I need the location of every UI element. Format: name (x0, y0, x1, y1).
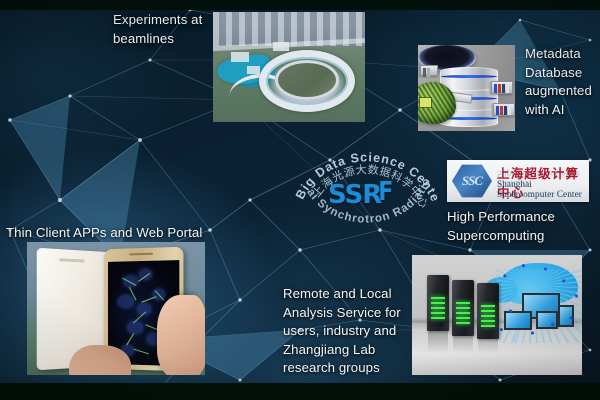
top-dark-band (0, 0, 600, 10)
caption-thin-client-apps: Thin Client APPs and Web Portal (6, 224, 202, 243)
building (273, 42, 289, 51)
server-racks-cloud-devices-illustration (412, 255, 582, 375)
sscc-hex-mark: SSC (452, 164, 492, 198)
server-rack (427, 275, 449, 331)
ssrf-wordmark: SSRF (328, 180, 394, 210)
hand (69, 345, 131, 375)
ssrf-facility-aerial-photo (213, 12, 365, 122)
db-glow-line (441, 75, 497, 78)
caption-metadata-database: Metadata Database augmented with AI (525, 45, 592, 119)
building (247, 66, 260, 74)
sscc-english-reflection: Shanghai Supercomputer Center (497, 169, 589, 189)
caption-experiments-at-beamlines: Experiments at beamlines (113, 11, 202, 48)
building (231, 52, 249, 62)
ssrf-big-data-science-center-logo: Big Data Science Center Shangh 上海光源大数据科学… (290, 114, 442, 232)
db-segment (440, 67, 498, 91)
shanghai-supercomputer-center-logo: SSC 上海超级计算中心 Shanghai Supercomputer Cent… (447, 160, 589, 202)
caption-remote-local-analysis-service: Remote and Local Analysis Service for us… (283, 285, 401, 378)
db-drawer (491, 81, 513, 94)
binary-data-particles (492, 259, 582, 343)
rack-reflection (428, 327, 448, 353)
rack-reflection (453, 327, 473, 353)
hand (157, 295, 205, 375)
phone-speaker (129, 253, 153, 256)
sscc-mark-text: SSC (462, 173, 482, 189)
bottom-dark-band (0, 383, 600, 400)
caption-high-performance-supercomputing: High Performance Supercomputing (447, 208, 555, 245)
db-drawer (493, 103, 515, 116)
ring-courtyard (275, 60, 339, 100)
db-drawer (420, 65, 438, 76)
slide-canvas: Big Data Science Center Shangh 上海光源大数据科学… (0, 0, 600, 400)
smartphone-molecular-viewer-photo (27, 242, 205, 375)
chip-icon (420, 98, 431, 107)
